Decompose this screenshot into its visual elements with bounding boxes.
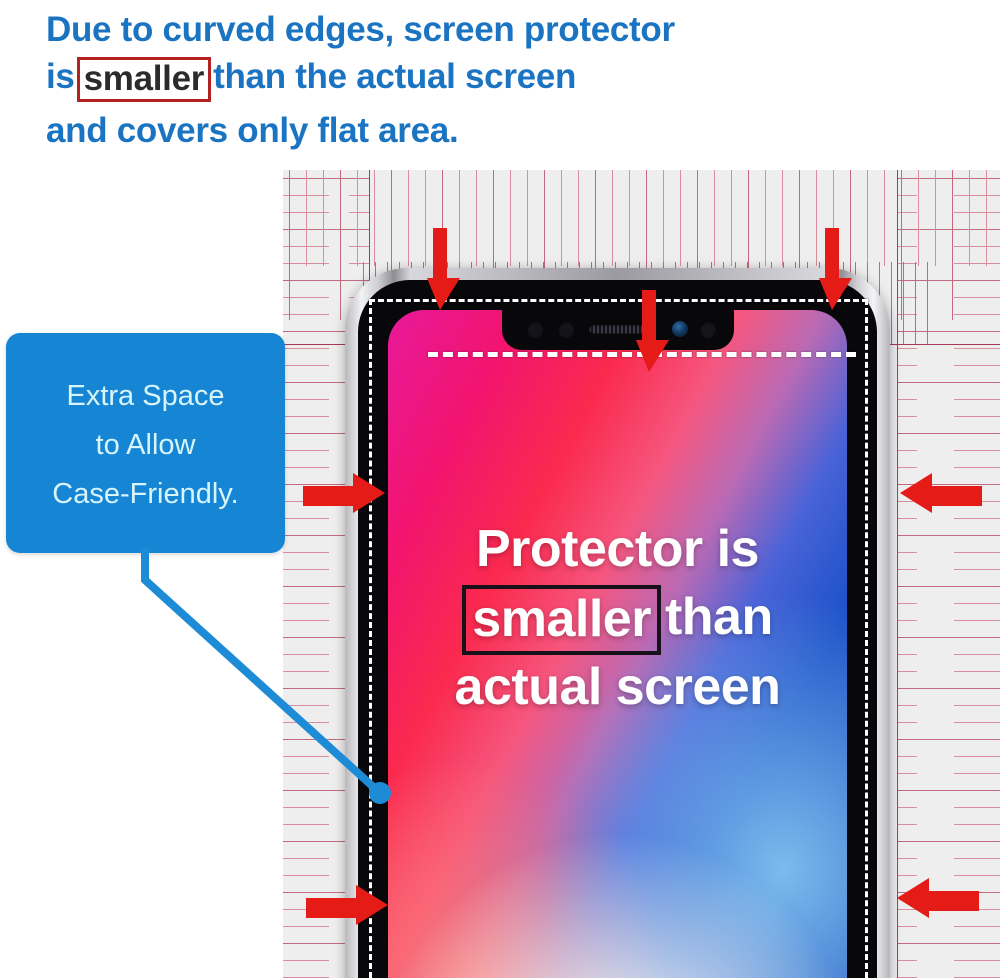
- headline-line-2: issmallerthan the actual screen: [46, 53, 1000, 100]
- protector-coverage-outline: [369, 299, 868, 978]
- page-title: Due to curved edges, screen protector is…: [0, 0, 1000, 160]
- callout-line-1: Extra Space: [6, 372, 285, 421]
- arrow-middle-right: [900, 473, 982, 513]
- arrow-bottom-right: [897, 878, 979, 918]
- arrow-bottom-left: [306, 885, 388, 925]
- headline-highlight-smaller: smaller: [77, 57, 212, 102]
- headline-line-3: and covers only flat area.: [46, 107, 1000, 154]
- headline-line-2-before: is: [46, 57, 75, 96]
- arrow-top-center: [629, 290, 669, 372]
- arrow-top-left: [420, 228, 460, 310]
- headline-line-1: Due to curved edges, screen protector: [46, 6, 1000, 53]
- callout-line-3: Case-Friendly.: [6, 470, 285, 519]
- arrow-middle-left: [303, 473, 385, 513]
- arrow-top-right: [812, 228, 852, 310]
- infographic-canvas: Due to curved edges, screen protector is…: [0, 0, 1000, 978]
- headline-line-2-after: than the actual screen: [213, 57, 576, 96]
- callout-line-2: to Allow: [6, 421, 285, 470]
- callout-extra-space: Extra Space to Allow Case-Friendly.: [6, 333, 285, 553]
